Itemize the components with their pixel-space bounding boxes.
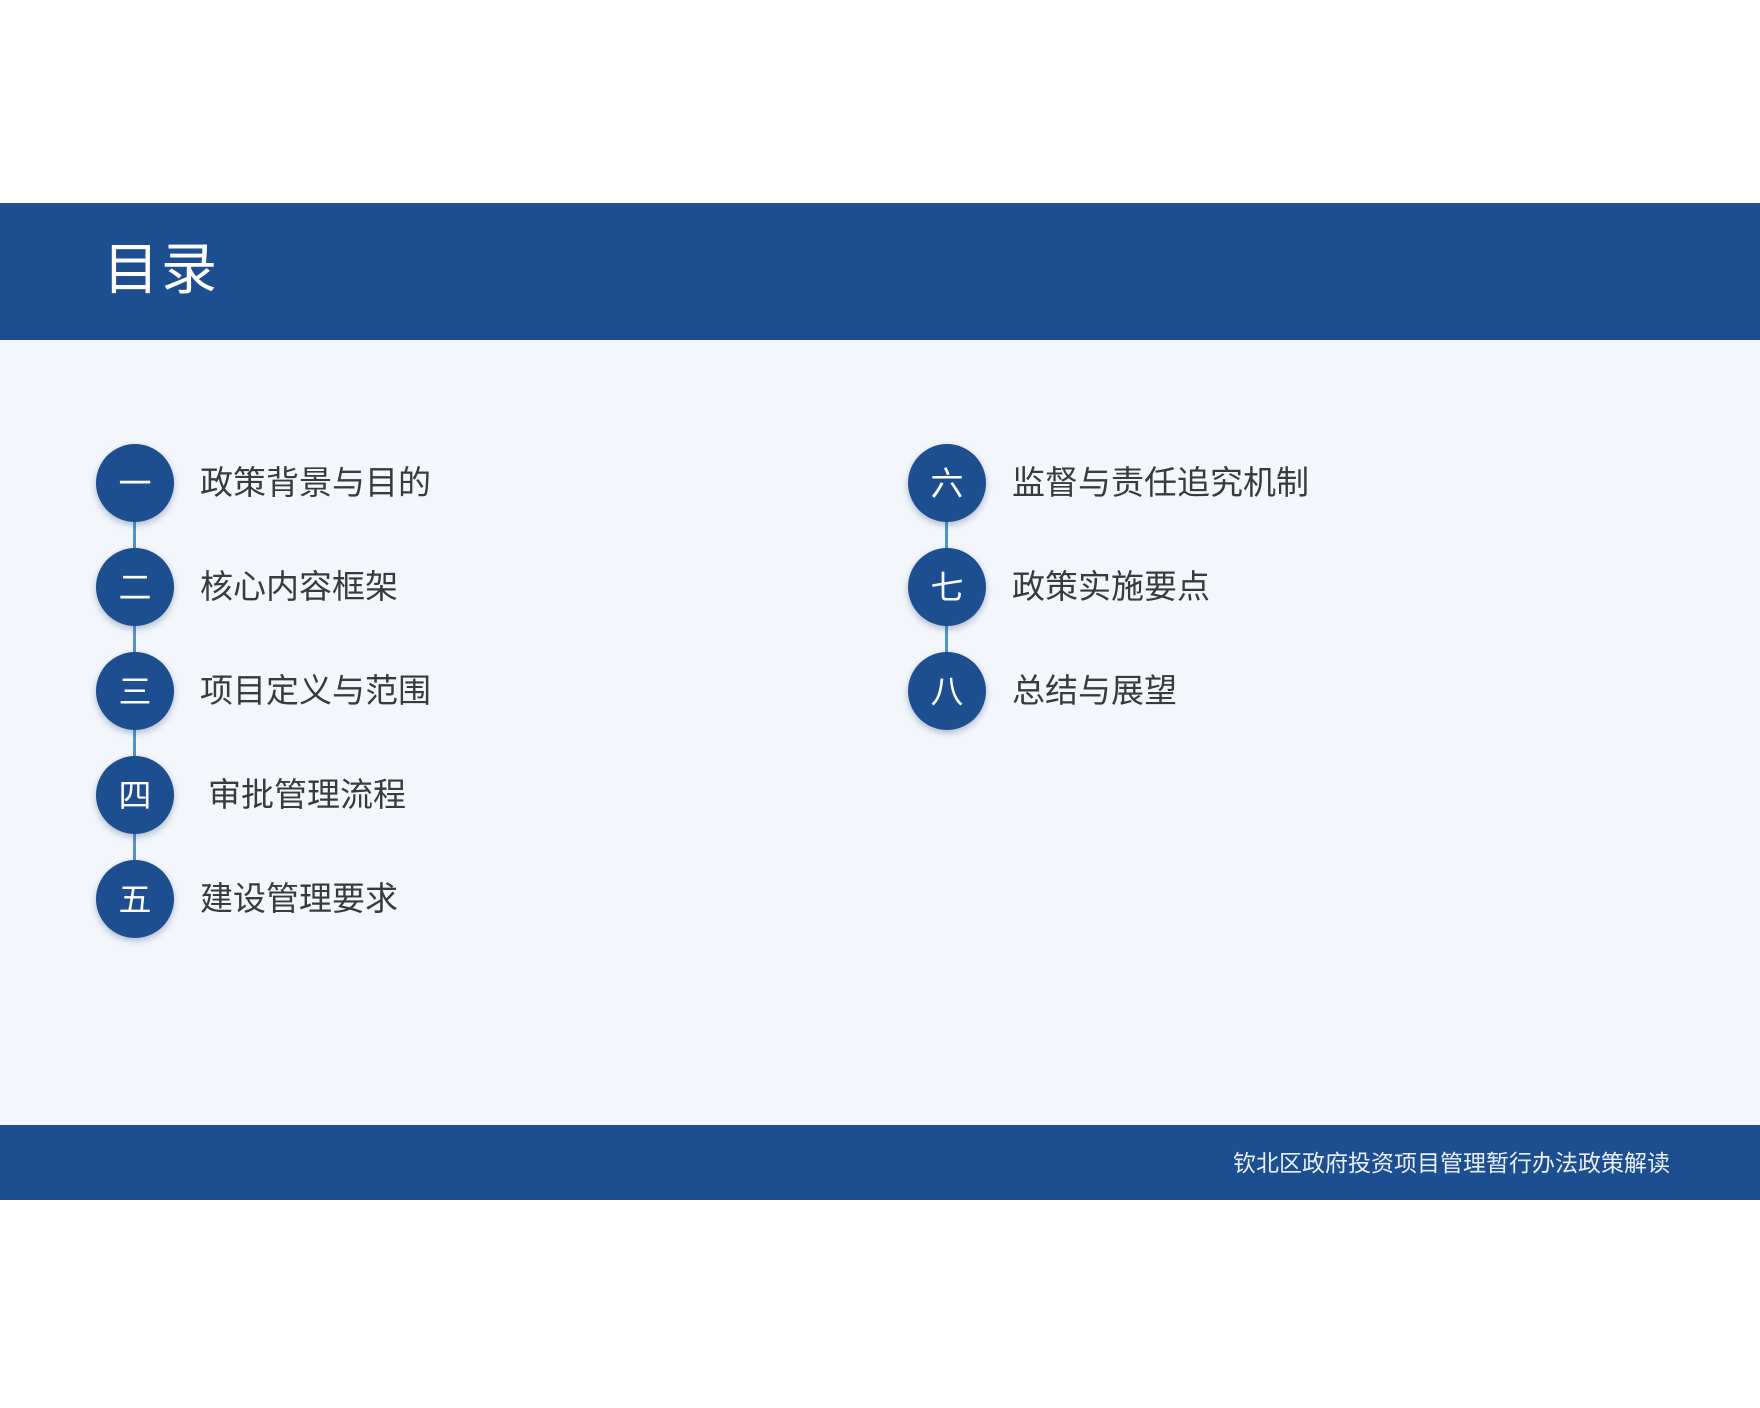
toc-item-label: 政策实施要点 [1012,567,1210,607]
toc-number-badge: 六 [908,444,986,522]
toc-number-label: 五 [119,883,152,916]
toc-item-label: 审批管理流程 [208,775,406,815]
toc-number-badge: 一 [96,444,174,522]
toc-item-label: 项目定义与范围 [200,671,431,711]
toc-item[interactable]: 八总结与展望 [908,652,1177,730]
toc-item-label: 建设管理要求 [200,879,398,919]
slide-header-band: 目录 [0,203,1760,340]
slide-footer-band: 钦北区政府投资项目管理暂行办法政策解读 [0,1125,1760,1200]
toc-number-label: 七 [931,571,964,604]
toc-number-label: 六 [931,467,964,500]
toc-number-badge: 三 [96,652,174,730]
toc-item-label: 监督与责任追究机制 [1012,463,1309,503]
page-title: 目录 [103,231,219,309]
toc-number-label: 一 [119,467,152,500]
toc-item-label: 总结与展望 [1012,671,1177,711]
toc-item[interactable]: 三项目定义与范围 [96,652,431,730]
toc-item[interactable]: 六监督与责任追究机制 [908,444,1309,522]
toc-number-badge: 四 [96,756,174,834]
toc-number-badge: 七 [908,548,986,626]
toc-number-label: 三 [119,675,152,708]
toc-item[interactable]: 五建设管理要求 [96,860,398,938]
toc-number-label: 二 [119,571,152,604]
slide-body: 一政策背景与目的二核心内容框架三项目定义与范围四审批管理流程五建设管理要求 六监… [0,340,1760,1125]
toc-item[interactable]: 七政策实施要点 [908,548,1210,626]
toc-number-badge: 八 [908,652,986,730]
toc-item-label: 核心内容框架 [200,567,398,607]
toc-number-badge: 五 [96,860,174,938]
slide-canvas: 目录 一政策背景与目的二核心内容框架三项目定义与范围四审批管理流程五建设管理要求… [0,0,1760,1408]
toc-item[interactable]: 四审批管理流程 [96,756,406,834]
toc-number-label: 四 [119,779,152,812]
toc-number-badge: 二 [96,548,174,626]
toc-item[interactable]: 一政策背景与目的 [96,444,431,522]
toc-item-label: 政策背景与目的 [200,463,431,503]
toc-item[interactable]: 二核心内容框架 [96,548,398,626]
toc-number-label: 八 [931,675,964,708]
footer-caption: 钦北区政府投资项目管理暂行办法政策解读 [1233,1125,1670,1200]
